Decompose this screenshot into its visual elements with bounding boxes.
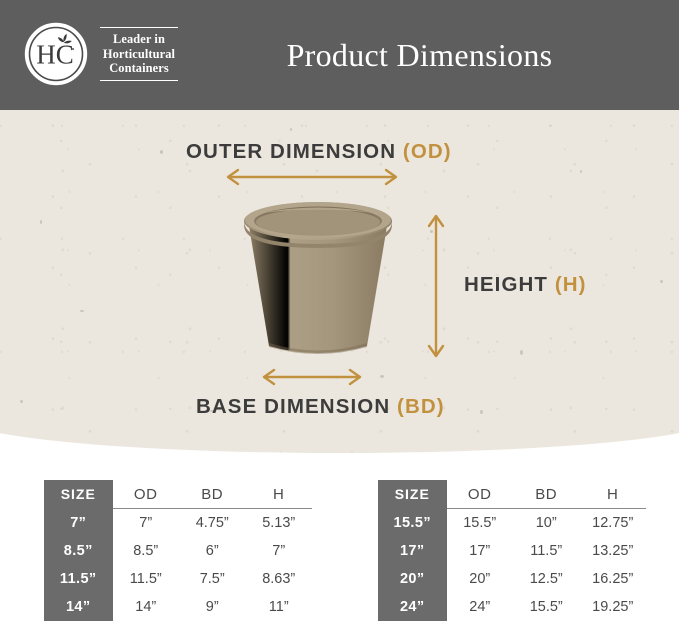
table-body-right: 15.5” 15.5” 10” 12.75” 17” 17” 11.5” 13.… [378, 509, 646, 622]
cell-od: 20” [447, 565, 513, 593]
cell-size: 14” [44, 593, 113, 621]
cell-h: 16.25” [579, 565, 646, 593]
table-row: 17” 17” 11.5” 13.25” [378, 537, 646, 565]
cell-bd: 9” [179, 593, 245, 621]
cell-size: 7” [44, 509, 113, 538]
cell-od: 15.5” [447, 509, 513, 538]
cell-h: 5.13” [245, 509, 312, 538]
cell-h: 7” [245, 537, 312, 565]
cell-bd: 4.75” [179, 509, 245, 538]
cell-h: 12.75” [579, 509, 646, 538]
column-header-size: SIZE [44, 480, 113, 509]
size-table-left: SIZE OD BD H 7” 7” 4.75” 5.13” 8.5” 8.5”… [44, 480, 312, 621]
table-body-left: 7” 7” 4.75” 5.13” 8.5” 8.5” 6” 7” 11.5” … [44, 509, 312, 622]
column-header-h: H [245, 480, 312, 509]
outer-dimension-code: (OD) [403, 140, 452, 163]
svg-text:HC: HC [36, 40, 74, 70]
base-dimension-code: (BD) [397, 395, 445, 418]
table-row: 14” 14” 9” 11” [44, 593, 312, 621]
column-header-od: OD [113, 480, 179, 509]
column-header-h: H [579, 480, 646, 509]
column-header-bd: BD [513, 480, 579, 509]
cell-h: 8.63” [245, 565, 312, 593]
table-row: 11.5” 11.5” 7.5” 8.63” [44, 565, 312, 593]
cell-bd: 10” [513, 509, 579, 538]
planter-pot-illustration [228, 200, 408, 366]
cell-bd: 6” [179, 537, 245, 565]
hc-logo-icon: HC [22, 20, 90, 88]
cell-h: 19.25” [579, 593, 646, 621]
cell-size: 20” [378, 565, 447, 593]
cell-bd: 11.5” [513, 537, 579, 565]
base-dimension-arrow [258, 368, 366, 386]
brand-block: HC Leader in Horticultural Containers [22, 20, 178, 88]
cell-size: 11.5” [44, 565, 113, 593]
cell-bd: 12.5” [513, 565, 579, 593]
height-arrow [427, 210, 445, 362]
outer-dimension-arrow [222, 168, 402, 186]
table-row: 20” 20” 12.5” 16.25” [378, 565, 646, 593]
cell-od: 17” [447, 537, 513, 565]
table-header-row: SIZE OD BD H [378, 480, 646, 509]
cell-h: 13.25” [579, 537, 646, 565]
column-header-bd: BD [179, 480, 245, 509]
cell-od: 24” [447, 593, 513, 621]
diagram-panel: OUTER DIMENSION (OD) BASE DIMENSION (BD)… [0, 110, 679, 455]
size-table-right: SIZE OD BD H 15.5” 15.5” 10” 12.75” 17” … [378, 480, 646, 621]
cell-od: 14” [113, 593, 179, 621]
column-header-size: SIZE [378, 480, 447, 509]
table-header-row: SIZE OD BD H [44, 480, 312, 509]
outer-dimension-label: OUTER DIMENSION (OD) [186, 140, 452, 164]
brand-tagline: Leader in Horticultural Containers [100, 25, 178, 83]
height-code: (H) [555, 273, 587, 296]
height-text: HEIGHT [464, 273, 555, 296]
base-dimension-label: BASE DIMENSION (BD) [196, 395, 445, 419]
cell-size: 17” [378, 537, 447, 565]
outer-dimension-text: OUTER DIMENSION [186, 140, 403, 163]
brand-tagline-text: Leader in Horticultural Containers [103, 28, 175, 79]
column-header-od: OD [447, 480, 513, 509]
table-row: 24” 24” 15.5” 19.25” [378, 593, 646, 621]
base-dimension-text: BASE DIMENSION [196, 395, 397, 418]
cell-size: 24” [378, 593, 447, 621]
cell-bd: 7.5” [179, 565, 245, 593]
cell-od: 8.5” [113, 537, 179, 565]
cell-od: 11.5” [113, 565, 179, 593]
cell-size: 8.5” [44, 537, 113, 565]
table-row: 8.5” 8.5” 6” 7” [44, 537, 312, 565]
header-bar: HC Leader in Horticultural Containers Pr… [0, 0, 679, 110]
table-row: 7” 7” 4.75” 5.13” [44, 509, 312, 538]
cell-bd: 15.5” [513, 593, 579, 621]
cell-h: 11” [245, 593, 312, 621]
cell-od: 7” [113, 509, 179, 538]
height-label: HEIGHT (H) [464, 273, 587, 297]
tagline-rule-bottom [100, 80, 178, 82]
table-row: 15.5” 15.5” 10” 12.75” [378, 509, 646, 538]
cell-size: 15.5” [378, 509, 447, 538]
